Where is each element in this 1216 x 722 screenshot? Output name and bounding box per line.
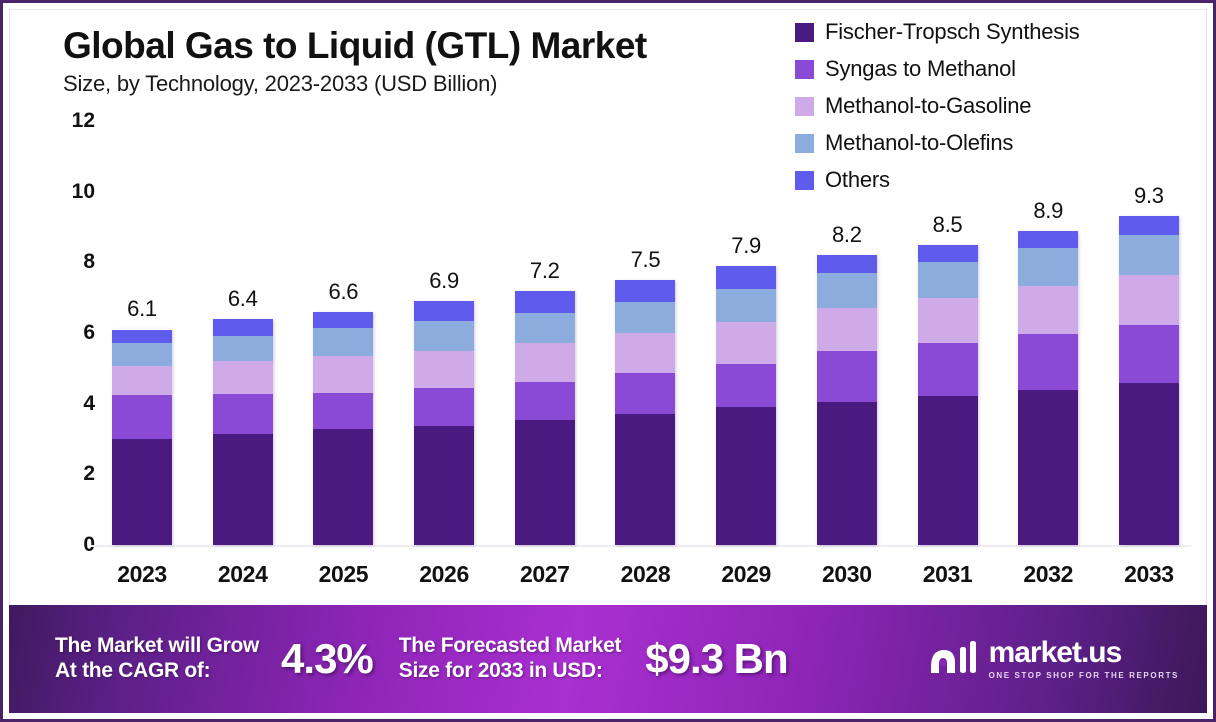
cagr-label: The Market will Grow At the CAGR of:	[55, 634, 259, 684]
bar-segment[interactable]	[213, 361, 273, 394]
bar-segment[interactable]	[112, 330, 172, 343]
x-axis-tick-label: 2023	[98, 561, 186, 588]
bar-segment[interactable]	[615, 333, 675, 373]
bar-segment[interactable]	[313, 393, 373, 429]
bar-column[interactable]: 9.3	[1105, 121, 1193, 545]
bar-segment[interactable]	[1119, 325, 1179, 383]
y-axis-tick-label: 10	[72, 180, 95, 204]
bar-column[interactable]: 8.5	[904, 121, 992, 545]
y-axis-tick-label: 2	[83, 462, 95, 486]
legend-item-label: Methanol-to-Gasoline	[825, 93, 1031, 119]
bar-segment[interactable]	[615, 302, 675, 333]
x-axis-line	[91, 545, 1191, 547]
bar-column[interactable]: 6.4	[199, 121, 287, 545]
bar-segment[interactable]	[817, 402, 877, 545]
bar-segment[interactable]	[515, 343, 575, 382]
bar-segment[interactable]	[615, 414, 675, 545]
bar-segment[interactable]	[918, 245, 978, 262]
bar-segment[interactable]	[615, 373, 675, 414]
bar-column[interactable]: 7.2	[501, 121, 589, 545]
bar-series-group: 6.16.46.66.97.27.57.98.28.58.99.3	[98, 121, 1193, 545]
legend-swatch-icon	[795, 60, 814, 79]
bar-column[interactable]: 6.1	[98, 121, 186, 545]
cagr-label-line1: The Market will Grow	[55, 634, 259, 659]
bar-segment[interactable]	[918, 343, 978, 396]
bar-segment[interactable]	[817, 255, 877, 273]
stacked-bar[interactable]	[1018, 231, 1078, 545]
y-axis-tick-label: 6	[83, 321, 95, 345]
bar-value-label: 6.6	[299, 279, 387, 305]
stacked-bar[interactable]	[615, 280, 675, 545]
bar-segment[interactable]	[918, 298, 978, 343]
bar-column[interactable]: 7.5	[601, 121, 689, 545]
bar-value-label: 9.3	[1105, 183, 1193, 209]
cagr-value: 4.3%	[281, 635, 373, 683]
bar-segment[interactable]	[313, 328, 373, 356]
x-axis-tick-label: 2028	[601, 561, 689, 588]
bar-value-label: 6.1	[98, 296, 186, 322]
stacked-bar[interactable]	[414, 301, 474, 545]
stacked-bar[interactable]	[817, 255, 877, 545]
stacked-bar[interactable]	[716, 266, 776, 545]
bar-segment[interactable]	[1018, 248, 1078, 286]
bar-segment[interactable]	[918, 396, 978, 545]
stacked-bar[interactable]	[112, 329, 172, 545]
page-subtitle: Size, by Technology, 2023-2033 (USD Bill…	[63, 71, 647, 97]
stacked-bar[interactable]	[313, 312, 373, 545]
bar-column[interactable]: 6.9	[400, 121, 488, 545]
bar-segment[interactable]	[817, 351, 877, 402]
stacked-bar[interactable]	[918, 245, 978, 545]
bar-value-label: 7.2	[501, 258, 589, 284]
bar-value-label: 8.2	[803, 222, 891, 248]
bar-segment[interactable]	[313, 429, 373, 545]
x-axis-labels: 2023202420252026202720282029203020312032…	[98, 561, 1193, 588]
bar-segment[interactable]	[112, 366, 172, 395]
legend-swatch-icon	[795, 23, 814, 42]
forecast-label-line2: Size for 2033 in USD:	[399, 659, 621, 684]
forecast-value: $9.3 Bn	[645, 635, 787, 683]
bar-value-label: 8.9	[1004, 198, 1092, 224]
x-axis-tick-label: 2029	[702, 561, 790, 588]
bar-segment[interactable]	[716, 364, 776, 407]
legend-swatch-icon	[795, 97, 814, 116]
bar-segment[interactable]	[515, 420, 575, 545]
bar-segment[interactable]	[1018, 334, 1078, 390]
bar-segment[interactable]	[112, 439, 172, 545]
brand-logo[interactable]: market.us ONE STOP SHOP FOR THE REPORTS	[927, 637, 1189, 682]
stacked-bar[interactable]	[1119, 216, 1179, 545]
bar-segment[interactable]	[515, 382, 575, 419]
cagr-label-line2: At the CAGR of:	[55, 659, 259, 684]
bar-column[interactable]: 8.2	[803, 121, 891, 545]
bar-segment[interactable]	[1119, 275, 1179, 325]
bar-segment[interactable]	[213, 319, 273, 336]
bar-segment[interactable]	[414, 426, 474, 545]
page-title: Global Gas to Liquid (GTL) Market	[63, 25, 647, 67]
x-axis-tick-label: 2027	[501, 561, 589, 588]
bar-segment[interactable]	[414, 388, 474, 425]
bar-segment[interactable]	[515, 291, 575, 313]
bar-segment[interactable]	[1018, 231, 1078, 248]
stacked-bar[interactable]	[515, 291, 575, 545]
x-axis-tick-label: 2032	[1004, 561, 1092, 588]
bar-segment[interactable]	[414, 351, 474, 389]
legend-item[interactable]: Fischer-Tropsch Synthesis	[795, 19, 1080, 45]
bar-segment[interactable]	[515, 313, 575, 344]
y-axis: 024681012	[53, 121, 95, 545]
bar-segment[interactable]	[716, 266, 776, 289]
stacked-bar[interactable]	[213, 319, 273, 545]
x-axis-tick-label: 2025	[299, 561, 387, 588]
x-axis-tick-label: 2024	[199, 561, 287, 588]
bar-segment[interactable]	[213, 434, 273, 545]
bar-segment[interactable]	[817, 308, 877, 351]
logo-tagline: ONE STOP SHOP FOR THE REPORTS	[989, 671, 1179, 680]
bar-segment[interactable]	[213, 336, 273, 362]
bar-segment[interactable]	[615, 280, 675, 302]
bar-segment[interactable]	[414, 301, 474, 321]
bar-column[interactable]: 7.9	[702, 121, 790, 545]
summary-banner: The Market will Grow At the CAGR of: 4.3…	[9, 605, 1207, 713]
bar-segment[interactable]	[313, 312, 373, 329]
bar-value-label: 6.9	[400, 268, 488, 294]
bar-segment[interactable]	[716, 289, 776, 323]
market-us-logo-icon	[927, 637, 979, 682]
x-axis-tick-label: 2031	[904, 561, 992, 588]
bar-column[interactable]: 6.6	[299, 121, 387, 545]
bar-column[interactable]: 8.9	[1004, 121, 1092, 545]
bar-segment[interactable]	[112, 395, 172, 439]
y-axis-tick-label: 4	[83, 392, 95, 416]
bar-segment[interactable]	[1119, 216, 1179, 235]
bar-segment[interactable]	[1018, 286, 1078, 334]
logo-name: market.us	[989, 638, 1179, 668]
bar-segment[interactable]	[918, 262, 978, 298]
bar-segment[interactable]	[817, 273, 877, 308]
y-axis-tick-label: 12	[72, 109, 95, 133]
x-axis-tick-label: 2033	[1105, 561, 1193, 588]
bar-segment[interactable]	[313, 356, 373, 393]
infographic-frame: Global Gas to Liquid (GTL) Market Size, …	[0, 0, 1216, 722]
bar-segment[interactable]	[213, 394, 273, 434]
bar-segment[interactable]	[414, 321, 474, 351]
legend-item[interactable]: Methanol-to-Gasoline	[795, 93, 1080, 119]
bar-value-label: 8.5	[904, 212, 992, 238]
legend-item[interactable]: Syngas to Methanol	[795, 56, 1080, 82]
bar-segment[interactable]	[1018, 390, 1078, 545]
bar-segment[interactable]	[1119, 235, 1179, 275]
x-axis-tick-label: 2026	[400, 561, 488, 588]
forecast-label-line1: The Forecasted Market	[399, 634, 621, 659]
forecast-label: The Forecasted Market Size for 2033 in U…	[399, 634, 621, 684]
bar-segment[interactable]	[716, 322, 776, 364]
x-axis-tick-label: 2030	[803, 561, 891, 588]
y-axis-tick-label: 8	[83, 250, 95, 274]
logo-text: market.us ONE STOP SHOP FOR THE REPORTS	[989, 638, 1179, 680]
legend-item-label: Syngas to Methanol	[825, 56, 1016, 82]
bar-value-label: 6.4	[199, 286, 287, 312]
bar-segment[interactable]	[112, 343, 172, 366]
bar-segment[interactable]	[716, 407, 776, 545]
legend-item-label: Fischer-Tropsch Synthesis	[825, 19, 1080, 45]
bar-value-label: 7.5	[601, 247, 689, 273]
title-block: Global Gas to Liquid (GTL) Market Size, …	[63, 25, 647, 97]
bar-value-label: 7.9	[702, 233, 790, 259]
bar-segment[interactable]	[1119, 383, 1179, 545]
